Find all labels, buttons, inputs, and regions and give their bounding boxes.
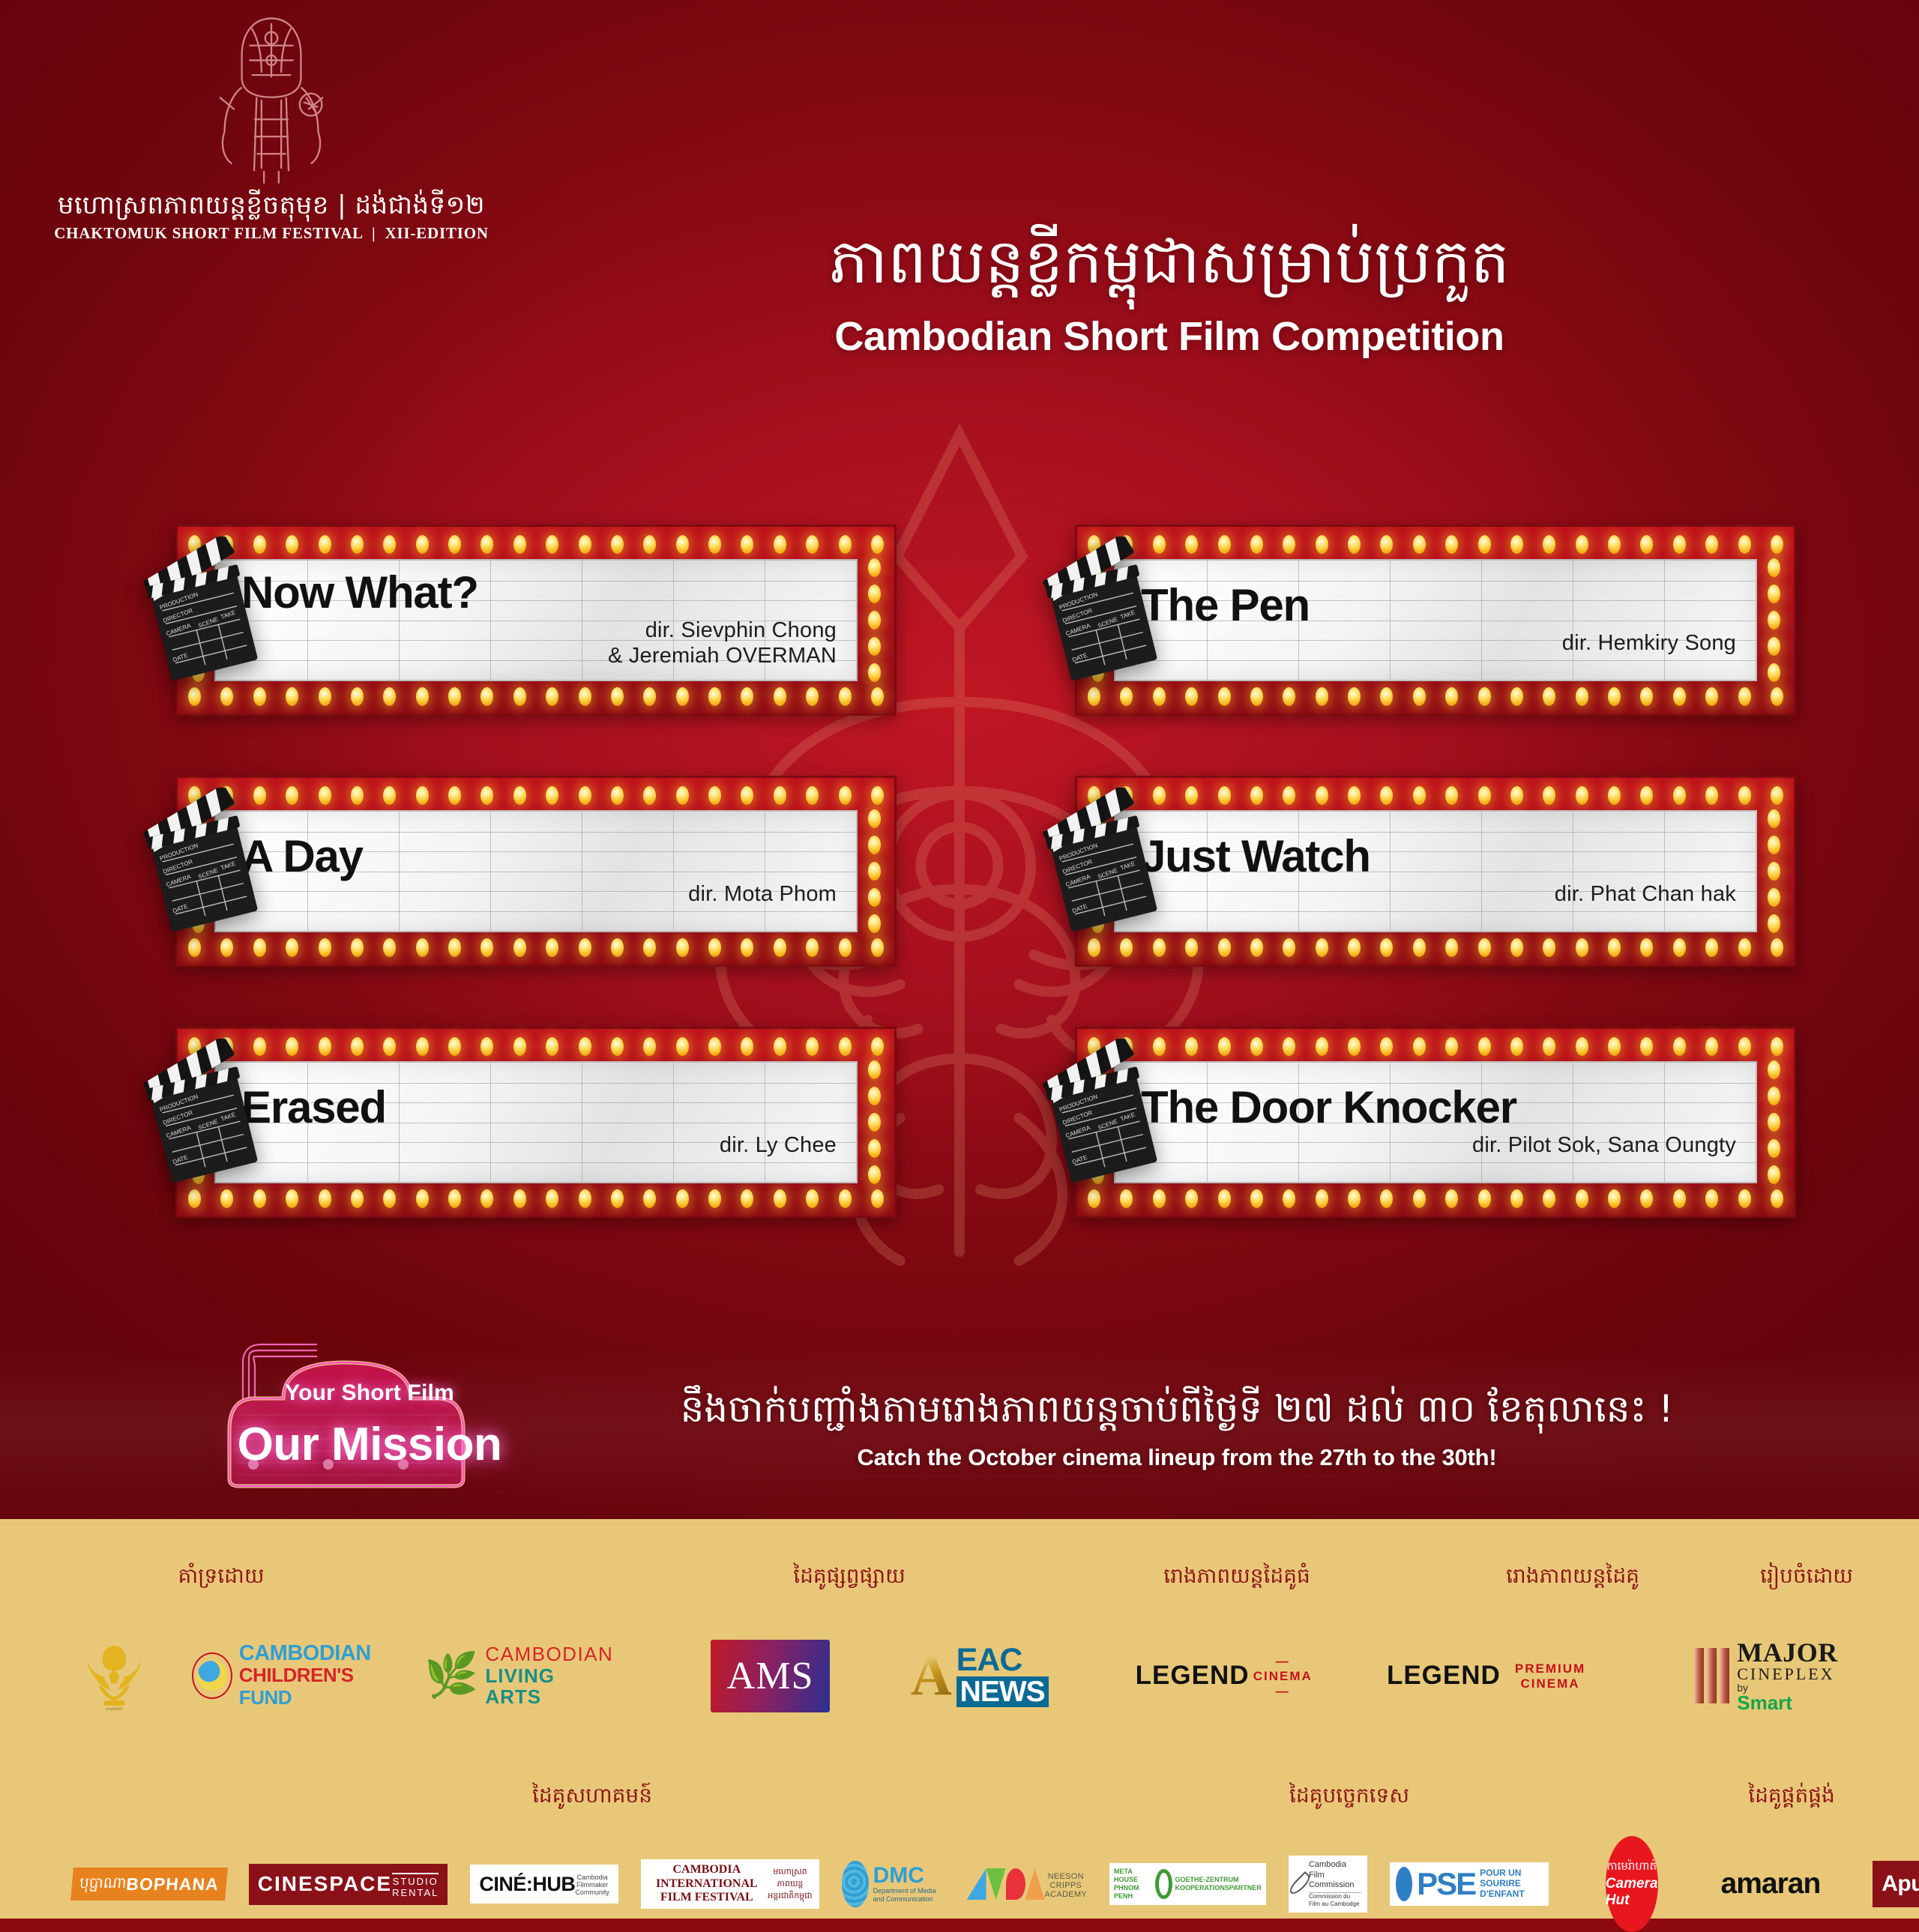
footer-heading-media-partners: ដៃគូផ្សព្វផ្សាយ: [793, 1563, 906, 1589]
marquee-bulb: [351, 786, 364, 805]
marquee-bulb: [1445, 687, 1458, 706]
marquee-bulb: [546, 1037, 558, 1056]
bulb-row-top: [1088, 533, 1783, 555]
marquee-bulb: [1218, 535, 1231, 554]
festival-name-en-text: CHAKTOMUK SHORT FILM FESTIVAL: [54, 224, 363, 242]
marquee-bulb: [611, 1037, 624, 1056]
footer-heading-community-partners: ដៃគូសហាគមន៍: [532, 1782, 652, 1808]
marquee-bulb: [1608, 938, 1621, 957]
marquee-bulb: [1153, 938, 1166, 957]
cambodia-international-film-festival-logo[interactable]: CAMBODIA INTERNATIONAL FILM FESTIVAL មហោ…: [641, 1859, 819, 1908]
camerahut-english: Camera Hut: [1606, 1876, 1658, 1909]
marquee-bulb: [1771, 687, 1783, 706]
marquee-bulb: [741, 687, 753, 706]
cineplex-word: CINEPLEX: [1737, 1666, 1837, 1682]
marquee-bulb: [676, 938, 689, 957]
marquee-bulb: [611, 535, 624, 554]
clapperboard-icon: PRODUCTION DIRECTOR CAMERA SCENE TAKE DA…: [1039, 788, 1165, 935]
footer-heading-major-cinema-partner: រោងភាពយន្តដៃគូធំ: [1163, 1563, 1310, 1589]
marquee-bulb: [286, 938, 298, 957]
marquee-bulb: [676, 687, 689, 706]
marquee-bulb: [448, 1037, 461, 1056]
marquee-bulb: [806, 938, 819, 957]
bophana-english: BOPHANA: [125, 1874, 220, 1895]
bulb-row-bottom: [1088, 685, 1783, 707]
marquee-bulb: [1348, 938, 1361, 957]
legend-premium-sub: PREMIUM CINEMA: [1501, 1661, 1600, 1691]
marquee-bulb: [1768, 1060, 1780, 1079]
cambodian-childrens-fund-logo[interactable]: CAMBODIAN CHILDREN'S FUND: [192, 1643, 385, 1709]
marquee-bulb: [1445, 1037, 1458, 1056]
film-info: Just Watch dir. Phat Chan hak: [1115, 812, 1756, 931]
marquee-bulb: [1705, 1037, 1718, 1056]
marquee-bulb: [611, 938, 624, 957]
marquee-bulb: [1576, 1037, 1588, 1056]
marquee-bulb: [1673, 786, 1686, 805]
marquee-bulb: [188, 687, 201, 706]
marquee-bulb: [1771, 938, 1783, 957]
marquee-bulb: [1738, 786, 1751, 805]
film-director: dir. Mota Phom: [241, 882, 837, 908]
film-director: dir. Hemkiry Song: [1141, 631, 1736, 656]
cambodian-living-arts-logo[interactable]: 🌿 CAMBODIAN LIVING ARTS: [424, 1643, 613, 1708]
amaran-logo[interactable]: amaran: [1721, 1868, 1821, 1901]
cinespace-sub: STUDIO RENTAL: [392, 1873, 439, 1898]
dmc-word: DMC: [873, 1865, 945, 1887]
marquee-bulb: [1608, 1189, 1621, 1208]
film-card[interactable]: The Door Knocker dir. Pilot Sok, Sana Ou…: [1039, 1027, 1796, 1218]
film-title: Now What?: [241, 570, 837, 615]
marquee-bulb: [579, 1189, 591, 1208]
marquee-bulb: [1543, 1189, 1555, 1208]
clapperboard-icon: PRODUCTION DIRECTOR CAMERA SCENE TAKE DA…: [139, 788, 265, 935]
cinehub-word: CINÉ:HUB: [479, 1873, 575, 1896]
cine-hub-logo[interactable]: CINÉ:HUB Cambodia Filmmaker Community: [470, 1865, 618, 1904]
legend-cinema-sub: — CINEMA —: [1250, 1654, 1316, 1699]
cla-flame-icon: 🌿: [424, 1657, 478, 1694]
marquee-bulb: [643, 786, 656, 805]
marquee-bulb: [416, 1189, 429, 1208]
bulb-col-right: [863, 558, 885, 682]
marquee-bulb: [286, 786, 298, 805]
footer-row1-headings: គាំទ្រដោយ ដៃគូផ្សព្វផ្សាយ រោងភាពយន្តដៃគូ…: [0, 1563, 1919, 1596]
marquee-bulb: [1185, 535, 1198, 554]
date-banner: នឹងចាក់បញ្ជាំងតាមរោងភាពយន្តចាប់ពីថ្ងៃទី …: [592, 1385, 1762, 1471]
marquee-bulb: [188, 938, 201, 957]
bulb-row-bottom: [188, 936, 884, 959]
banner-english: Catch the October cinema lineup from the…: [592, 1444, 1762, 1471]
film-card[interactable]: A Day dir. Mota Phom PRODUCTION DIRECTOR…: [139, 776, 897, 967]
marquee-bulb: [1218, 1189, 1231, 1208]
marquee-bulb: [1543, 786, 1555, 805]
marquee-bulb: [1768, 1139, 1780, 1158]
marquee-bulb: [1283, 1189, 1295, 1208]
ccf-line1: CAMBODIAN: [239, 1643, 385, 1664]
film-info: Erased dir. Ly Chee: [216, 1063, 856, 1182]
marquee-bulb: [579, 535, 591, 554]
bulb-row-bottom: [188, 1187, 884, 1210]
dmc-logo[interactable]: DMC Department of Media and Communicatio…: [842, 1861, 944, 1907]
film-director: dir. Sievphin Chong & Jeremiah OVERMAN: [241, 618, 837, 668]
marquee-bulb: [774, 1189, 786, 1208]
marquee-bulb: [676, 786, 689, 805]
neeson-cripps-academy-logo[interactable]: NEESON CRIPPS ACADEMY: [967, 1868, 1088, 1900]
cinespace-studio-rental-logo[interactable]: CINESPACE STUDIO RENTAL: [249, 1864, 448, 1905]
goethe-ring-icon: [1155, 1869, 1172, 1899]
marquee-bulb: [480, 687, 493, 706]
marquee-bulb: [1673, 1189, 1686, 1208]
eac-text: EAC: [957, 1644, 1049, 1676]
marquee-bulb: [1250, 1037, 1263, 1056]
bulb-row-bottom: [1088, 936, 1783, 959]
page-title: ភាពយន្តខ្លីកម្ពុជាសម្រាប់ប្រកួត Cambodia…: [525, 225, 1814, 360]
marquee-bulb: [1348, 786, 1361, 805]
marquee-bulb: [1771, 1189, 1783, 1208]
marquee-bulb: [383, 786, 396, 805]
marquee-bulb: [1088, 1189, 1100, 1208]
marquee-bulb: [1250, 535, 1263, 554]
marquee-bulb: [1673, 535, 1686, 554]
marquee-bulb: [220, 687, 233, 706]
marquee-bulb: [868, 585, 881, 603]
marquee-bulb: [868, 836, 881, 854]
marquee-bulb: [1380, 687, 1393, 706]
marquee-bulb: [1380, 1037, 1393, 1056]
marquee-bulb: [383, 687, 396, 706]
marquee-bulb: [480, 1189, 493, 1208]
marquee-bulb: [1543, 535, 1555, 554]
marquee-bulb: [1576, 535, 1588, 554]
camera-hut-logo[interactable]: កាមេរ៉ាហាត់ Camera Hut: [1606, 1836, 1658, 1932]
marquee-bulb: [676, 1037, 689, 1056]
film-title: A Day: [241, 833, 837, 879]
marquee-bulb: [546, 687, 558, 706]
marquee-bulb: [1250, 687, 1263, 706]
marquee-bulb: [1316, 535, 1328, 554]
marquee-bulb: [1768, 611, 1780, 630]
marquee-bulb: [1348, 1189, 1361, 1208]
marquee-bulb: [1120, 938, 1133, 957]
marquee-bulb: [253, 1189, 266, 1208]
marquee-bulb: [774, 687, 786, 706]
marquee-bulb: [1705, 786, 1718, 805]
marquee-bulb: [1185, 938, 1198, 957]
bulb-row-top: [188, 784, 884, 806]
cfc-sub: Commission du Film au Cambodge: [1309, 1892, 1361, 1908]
marquee-bulb: [1413, 938, 1426, 957]
marquee-bulb: [579, 938, 591, 957]
marquee-bulb: [643, 687, 656, 706]
camerahut-khmer: កាមេរ៉ាហាត់: [1606, 1859, 1657, 1876]
marquee-bulb: [319, 1037, 331, 1056]
marquee-bulb: [1768, 1165, 1780, 1184]
cfc-text: Cambodia Film Commission: [1309, 1860, 1361, 1891]
dmc-sub: Department of Media and Communication: [873, 1887, 945, 1904]
legend-premium-word: LEGEND: [1387, 1661, 1501, 1691]
marquee-bulb: [1768, 1087, 1780, 1105]
footer-heading-supported-by: គាំទ្រដោយ: [178, 1563, 265, 1589]
marquee-bulb: [1218, 1037, 1231, 1056]
ministry-of-culture-seal-logo[interactable]: ក្រសួងវប្បធម៌: [75, 1630, 153, 1721]
marquee-bulb: [1283, 1037, 1295, 1056]
marquee-bulb: [839, 1037, 852, 1056]
marquee-bulb: [741, 1037, 753, 1056]
film-card[interactable]: Erased dir. Ly Chee PRODUCTION DIRECTOR …: [139, 1027, 897, 1218]
film-card[interactable]: Just Watch dir. Phat Chan hak PRODUCTION…: [1039, 776, 1796, 967]
marquee-bulb: [806, 1037, 819, 1056]
marquee-bulb: [351, 1037, 364, 1056]
marquee-bulb: [868, 1087, 881, 1105]
marquee-bulb: [1185, 1037, 1198, 1056]
major-cineplex-by-smart-logo[interactable]: MAJOR CINEPLEX by Smart: [1694, 1639, 1837, 1712]
marquee-bulb: [1640, 786, 1653, 805]
marquee-bulb: [253, 687, 266, 706]
marquee-bulb: [448, 938, 461, 957]
marquee-bulb: [774, 938, 786, 957]
marquee-bulb: [868, 558, 881, 577]
marquee-bulb: [1576, 938, 1588, 957]
goethe-zentrum-logo[interactable]: META HOUSE PHNOM PENH GOETHE-ZENTRUM KOO…: [1109, 1863, 1266, 1904]
ciff-khmer: មហោស្រពភាពយន្តអន្តរជាតិកម្ពុជា: [767, 1867, 814, 1903]
marquee-bulb: [1543, 687, 1555, 706]
marquee-bulb: [1478, 938, 1491, 957]
clapperboard-icon: PRODUCTION DIRECTOR CAMERA SCENE TAKE DA…: [139, 537, 265, 683]
marquee-bulb: [611, 1189, 624, 1208]
marquee-board: The Pen dir. Hemkiry Song: [1114, 559, 1757, 681]
pse-logo[interactable]: PSE POUR UN SOURIRE D'ENFANT: [1390, 1862, 1549, 1906]
bulb-row-top: [188, 533, 884, 555]
marquee-bulb: [220, 1189, 233, 1208]
footer-heading-cinema-partner: រោងភាពយន្តដៃគូ: [1506, 1563, 1639, 1589]
marquee-bulb: [416, 1037, 429, 1056]
marquee-bulb: [1088, 687, 1100, 706]
marquee-bulb: [1705, 1189, 1718, 1208]
marquee-bulb: [1445, 535, 1458, 554]
marquee-bulb: [448, 687, 461, 706]
marquee-bulb: [868, 663, 881, 682]
marquee-bulb: [351, 1189, 364, 1208]
marquee-bulb: [1413, 535, 1426, 554]
film-grid: Now What? dir. Sievphin Chong & Jeremiah…: [139, 525, 1796, 1218]
marquee-bulb: [1510, 535, 1523, 554]
bophana-logo[interactable]: បុប្ផាណា BOPHANA: [70, 1868, 228, 1901]
marquee-bulb: [448, 1189, 461, 1208]
bulb-row-bottom: [1088, 1187, 1783, 1210]
clapperboard-icon: PRODUCTION DIRECTOR CAMERA SCENE TAKE DA…: [139, 1039, 265, 1186]
pse-child-icon: [1396, 1867, 1412, 1901]
film-director-line: & Jeremiah OVERMAN: [241, 644, 837, 669]
marquee-bulb: [1510, 786, 1523, 805]
film-director: dir. Ly Chee: [241, 1133, 837, 1159]
marquee-bulb: [416, 938, 429, 957]
marquee-bulb: [871, 938, 884, 957]
clapperboard-icon: PRODUCTION DIRECTOR CAMERA SCENE TAKE DA…: [1039, 1039, 1165, 1186]
marquee-bulb: [1478, 535, 1491, 554]
marquee-board: Erased dir. Ly Chee: [214, 1061, 858, 1183]
footer-row2-logos: បុប្ផាណា BOPHANA CINESPACE STUDIO RENTAL…: [72, 1836, 1919, 1932]
marquee-bulb: [1316, 786, 1328, 805]
major-word: MAJOR: [1737, 1639, 1837, 1666]
marquee-bulb: [1543, 1037, 1555, 1056]
marquee-bulb: [868, 809, 881, 828]
marquee-bulb: [1771, 535, 1783, 554]
marquee-bulb: [868, 611, 881, 630]
footer-heading-supply-partners: ដៃគូផ្គត់ផ្គង់: [1748, 1782, 1835, 1808]
marquee-bulb: [513, 786, 526, 805]
film-title: Just Watch: [1141, 833, 1736, 879]
marquee-bulb: [1738, 938, 1751, 957]
eac-news-logo[interactable]: A EAC NEWS: [911, 1644, 1049, 1707]
marquee-bulb: [741, 938, 753, 957]
cla-line1: CAMBODIAN: [485, 1643, 613, 1665]
marquee-bulb: [1478, 687, 1491, 706]
cla-line2: LIVING ARTS: [485, 1665, 613, 1708]
marquee-board: Now What? dir. Sievphin Chong & Jeremiah…: [214, 559, 858, 681]
pse-sub: POUR UN SOURIRE D'ENFANT: [1480, 1868, 1543, 1899]
marquee-bulb: [579, 786, 591, 805]
marquee-bulb: [319, 786, 331, 805]
marquee-bulb: [1218, 687, 1231, 706]
marquee-bulb: [1380, 535, 1393, 554]
marquee-bulb: [1576, 786, 1588, 805]
film-director-line: dir. Pilot Sok, Sana Oungty: [1141, 1133, 1736, 1159]
footer-heading-organized-by: រៀបចំដោយ: [1760, 1563, 1853, 1589]
marquee-bulb: [480, 535, 493, 554]
marquee-bulb: [1185, 786, 1198, 805]
marquee-bulb: [643, 535, 656, 554]
marquee-bulb: [1185, 687, 1198, 706]
marquee-bulb: [1608, 1037, 1621, 1056]
footer-row1-logos: ក្រសួងវប្បធម៌ CAMBODIAN CHILDREN'S FUND …: [75, 1630, 1919, 1721]
cambodia-film-commission-logo[interactable]: Cambodia Film Commission Commission du F…: [1289, 1856, 1368, 1913]
major-pillars-icon: [1694, 1648, 1729, 1703]
ccf-line2: CHILDREN'S FUND: [239, 1664, 385, 1709]
marquee-bulb: [383, 938, 396, 957]
marquee-bulb: [1250, 1189, 1263, 1208]
marquee-bulb: [286, 1189, 298, 1208]
marquee-bulb: [611, 687, 624, 706]
marquee-bulb: [839, 1189, 852, 1208]
marquee-bulb: [1768, 637, 1780, 656]
marquee-bulb: [868, 862, 881, 881]
marquee-bulb: [416, 786, 429, 805]
marquee-bulb: [1771, 786, 1783, 805]
neeson-shapes-icon: [967, 1868, 1045, 1900]
marquee-bulb: [383, 535, 396, 554]
bulb-col-right: [863, 809, 885, 933]
marquee-bulb: [1185, 1189, 1198, 1208]
marquee-bulb: [1771, 1037, 1783, 1056]
marquee-bulb: [1576, 687, 1588, 706]
marquee-board: The Door Knocker dir. Pilot Sok, Sana Ou…: [1114, 1061, 1757, 1183]
marquee-bulb: [1673, 687, 1686, 706]
apsara-deity-icon: [189, 13, 354, 186]
marquee-bulb: [774, 535, 786, 554]
marquee-bulb: [513, 535, 526, 554]
festival-edition-text: XII-EDITION: [385, 224, 488, 242]
legend-cinema-logo[interactable]: LEGEND — CINEMA —: [1136, 1652, 1316, 1699]
ams-logo[interactable]: AMS: [711, 1640, 829, 1712]
marquee-bulb: [871, 535, 884, 554]
film-director-line: dir. Mota Phom: [241, 882, 837, 908]
marquee-bulb: [1413, 786, 1426, 805]
marquee-bulb: [1738, 1037, 1751, 1056]
marquee-bulb: [643, 1189, 656, 1208]
film-card[interactable]: Now What? dir. Sievphin Chong & Jeremiah…: [139, 525, 897, 716]
ccf-line2b: FUND: [239, 1686, 292, 1709]
marquee-bulb: [871, 687, 884, 706]
film-director-line: dir. Sievphin Chong: [241, 618, 837, 644]
marquee-bulb: [188, 1189, 201, 1208]
film-card[interactable]: The Pen dir. Hemkiry Song PRODUCTION DIR…: [1039, 525, 1796, 716]
marquee-bulb: [1576, 1189, 1588, 1208]
marquee-bulb: [319, 535, 331, 554]
eac-news-text: NEWS: [957, 1676, 1049, 1707]
marquee-bulb: [319, 938, 331, 957]
marquee-bulb: [1640, 1037, 1653, 1056]
marquee-bulb: [741, 535, 753, 554]
footer-heading-technical-partners: ដៃគូបច្ចេកទេស: [1289, 1782, 1409, 1808]
marquee-bulb: [708, 535, 721, 554]
marquee-bulb: [319, 1189, 331, 1208]
film-title: The Pen: [1141, 582, 1736, 628]
footer-row2-headings: ដៃគូសហាគមន៍ ដៃគូបច្ចេកទេស ដៃគូផ្គត់ផ្គង់: [0, 1782, 1919, 1815]
marquee-bulb: [480, 1037, 493, 1056]
goethe-zentrum-text: GOETHE-ZENTRUM KOOPERATIONSPARTNER: [1175, 1876, 1262, 1892]
marquee-bulb: [1673, 1037, 1686, 1056]
marquee-bulb: [1640, 687, 1653, 706]
marquee-bulb: [1768, 914, 1780, 933]
ccf-line2a: CHILDREN'S: [239, 1664, 354, 1686]
marquee-bulb: [1768, 663, 1780, 682]
marquee-bulb: [1153, 687, 1166, 706]
ccf-globe-icon: [192, 1652, 232, 1699]
ciff-word: CAMBODIA INTERNATIONAL FILM FESTIVAL: [647, 1863, 767, 1904]
marquee-board: Just Watch dir. Phat Chan hak: [1114, 810, 1757, 932]
film-director-line: dir. Phat Chan hak: [1141, 882, 1736, 908]
marquee-bulb: [1768, 585, 1780, 603]
marquee-bulb: [1413, 687, 1426, 706]
marquee-bulb: [1705, 535, 1718, 554]
marquee-bulb: [868, 1139, 881, 1158]
cinespace-word: CINESPACE: [258, 1872, 392, 1896]
svg-text:ក្រសួងវប្បធម៌: ក្រសួងវប្បធម៌: [106, 1706, 122, 1711]
goethe-metahouse-text: META HOUSE PHNOM PENH: [1114, 1868, 1152, 1900]
marquee-bulb: [871, 1037, 884, 1056]
marquee-bulb: [871, 1189, 884, 1208]
marquee-bulb: [1283, 535, 1295, 554]
marquee-bulb: [1445, 938, 1458, 957]
marquee-bulb: [546, 938, 558, 957]
marquee-bulb: [868, 637, 881, 656]
film-director-line: dir. Hemkiry Song: [1141, 631, 1736, 656]
marquee-bulb: [774, 786, 786, 805]
title-khmer: ភាពយន្តខ្លីកម្ពុជាសម្រាប់ប្រកួត: [525, 225, 1814, 300]
marquee-bulb: [546, 786, 558, 805]
marquee-bulb: [513, 1037, 526, 1056]
marquee-bulb: [1380, 786, 1393, 805]
marquee-bulb: [1705, 687, 1718, 706]
film-title: The Door Knocker: [1141, 1084, 1736, 1130]
marquee-bulb: [1705, 938, 1718, 957]
our-mission-neon-sign: Your Short Film Our Mission: [171, 1317, 568, 1490]
legend-premium-cinema-logo[interactable]: LEGEND PREMIUM CINEMA: [1387, 1660, 1600, 1691]
marquee-bulb: [1510, 687, 1523, 706]
smart-word: Smart: [1737, 1693, 1837, 1712]
festival-name-english: CHAKTOMUK SHORT FILM FESTIVAL | XII-EDIT…: [31, 224, 511, 243]
aputure-logo[interactable]: Aputure Next Level Imaging: [1873, 1861, 1919, 1907]
marquee-bulb: [643, 1037, 656, 1056]
